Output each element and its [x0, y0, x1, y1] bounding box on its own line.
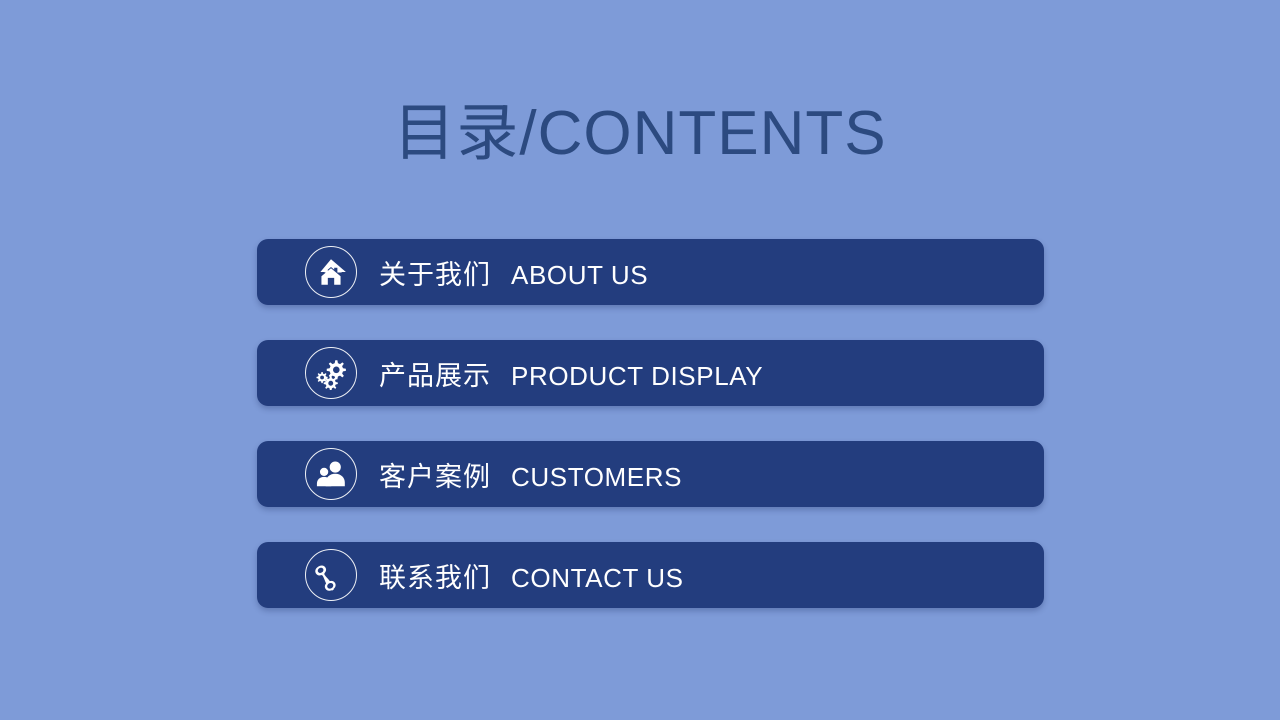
menu-item-label: 产品展示 PRODUCT DISPLAY — [379, 354, 763, 393]
menu-item-label-en: CONTACT US — [511, 563, 684, 594]
users-icon — [305, 448, 357, 500]
page-title: 目录/CONTENTS — [0, 98, 1280, 169]
menu-item-label: 客户案例 CUSTOMERS — [379, 455, 682, 494]
menu-item-label-en: ABOUT US — [511, 260, 648, 291]
phone-icon — [305, 549, 357, 601]
menu-item-label-en: PRODUCT DISPLAY — [511, 361, 763, 392]
menu-item-customers[interactable]: 客户案例 CUSTOMERS — [257, 441, 1044, 507]
menu-item-label-en: CUSTOMERS — [511, 462, 682, 493]
menu-item-label-cn: 产品展示 — [379, 354, 491, 393]
menu-item-label: 关于我们 ABOUT US — [379, 253, 648, 292]
menu-item-label-cn: 客户案例 — [379, 455, 491, 494]
contents-menu-list: 关于我们 ABOUT US 产品展示 — [257, 239, 1044, 608]
menu-item-label-cn: 联系我们 — [379, 556, 491, 595]
menu-item-about-us[interactable]: 关于我们 ABOUT US — [257, 239, 1044, 305]
menu-item-label-cn: 关于我们 — [379, 253, 491, 292]
menu-item-label: 联系我们 CONTACT US — [379, 556, 684, 595]
menu-item-product-display[interactable]: 产品展示 PRODUCT DISPLAY — [257, 340, 1044, 406]
home-icon — [305, 246, 357, 298]
contents-slide: 目录/CONTENTS 关于我们 ABOUT US — [0, 0, 1280, 720]
gears-icon — [305, 347, 357, 399]
menu-item-contact-us[interactable]: 联系我们 CONTACT US — [257, 542, 1044, 608]
